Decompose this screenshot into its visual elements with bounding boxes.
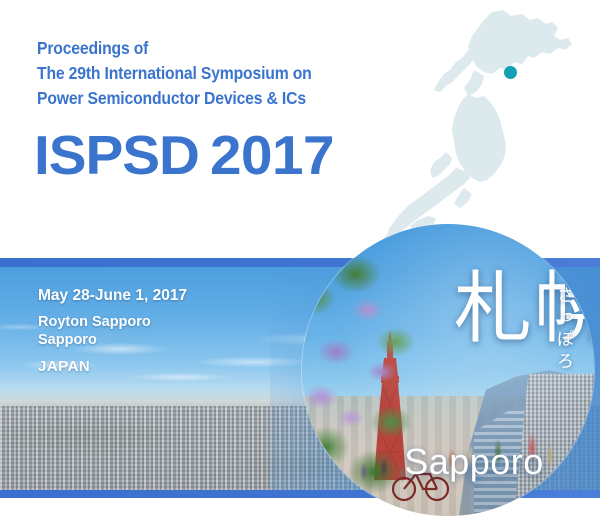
conference-proceedings-cover: Proceedings of The 29th International Sy… [0,0,600,524]
event-country: JAPAN [38,357,187,377]
heading-line-2: The 29th International Symposium on [37,61,361,86]
logo-year: 2017 [210,128,334,183]
sapporo-circular-photo: 札幌 さっぽろ Sapporo [302,224,594,516]
logo-acronym: ISPSD [34,128,199,183]
ispsd-logo: ISPSD 2017 [34,128,330,183]
sapporo-location-marker-icon [504,66,517,79]
heading-line-1: Proceedings of [37,36,361,61]
event-dates: May 28-June 1, 2017 [38,286,187,306]
sapporo-furigana: さっぽろ [547,286,580,374]
japan-map-silhouette [372,0,600,258]
cover-top-section: Proceedings of The 29th International Sy… [0,0,600,258]
sapporo-romaji: Sapporo [384,442,564,482]
event-info-block: May 28-June 1, 2017 Royton Sapporo Sappo… [38,286,187,377]
proceedings-heading: Proceedings of The 29th International Sy… [37,36,397,111]
event-city: Sapporo [38,331,187,349]
event-venue: Royton Sapporo [38,313,187,331]
heading-line-3: Power Semiconductor Devices & ICs [37,86,361,111]
